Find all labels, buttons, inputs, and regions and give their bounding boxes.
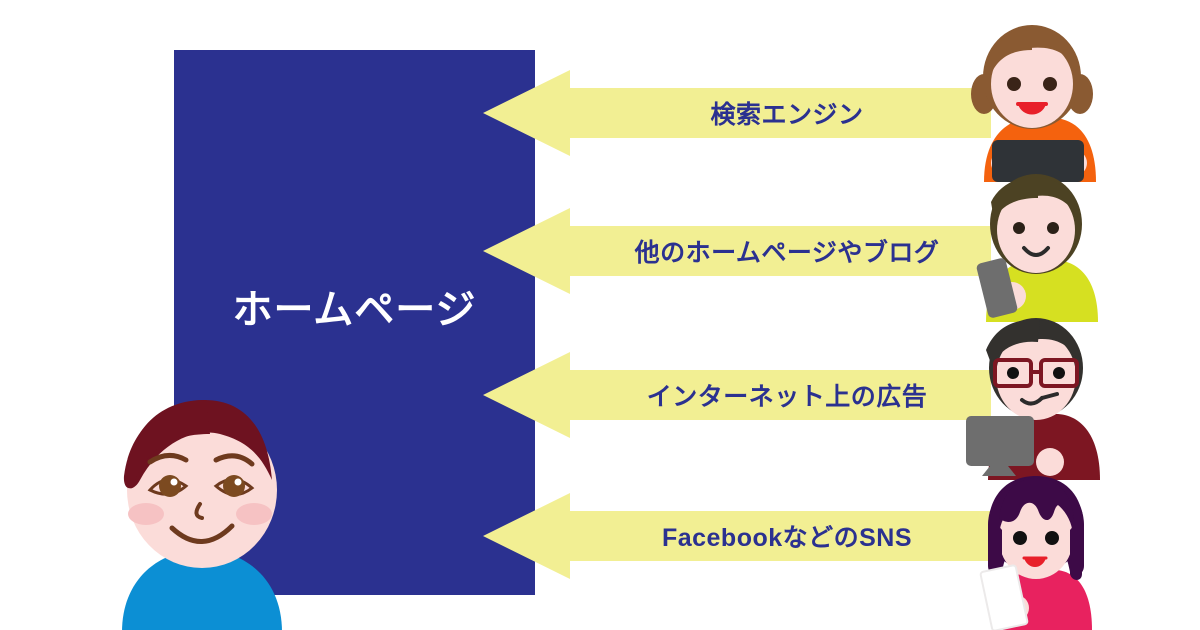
person-girl-with-tablet bbox=[962, 22, 1142, 182]
eye-left-icon bbox=[1013, 222, 1025, 234]
eye-left-icon bbox=[1007, 77, 1021, 91]
arrow-search-engine: 検索エンジン bbox=[483, 70, 991, 156]
person-main-boy bbox=[110, 392, 320, 630]
arrow-label-search-engine: 検索エンジン bbox=[583, 70, 991, 156]
infographic-canvas: ホームページ 検索エンジン 他のホームページやブログ インターネット上の広告 F… bbox=[0, 0, 1200, 630]
blush-left-icon bbox=[128, 503, 164, 525]
eye-left-icon bbox=[1007, 367, 1019, 379]
arrow-label-sns: FacebookなどのSNS bbox=[583, 493, 991, 579]
arrow-label-other-sites: 他のホームページやブログ bbox=[583, 208, 991, 294]
eye-right-icon bbox=[1045, 531, 1059, 545]
person-boy-with-smartphone bbox=[962, 172, 1142, 322]
blush-right-icon bbox=[236, 503, 272, 525]
eye-right-icon bbox=[1047, 222, 1059, 234]
eye-left-icon bbox=[1013, 531, 1027, 545]
person-girl-with-white-device bbox=[962, 470, 1142, 630]
arrow-sns: FacebookなどのSNS bbox=[483, 493, 991, 579]
homepage-panel-label: ホームページ bbox=[174, 290, 535, 330]
arrow-other-sites: 他のホームページやブログ bbox=[483, 208, 991, 294]
person-man-with-monitor bbox=[962, 310, 1142, 480]
arrow-internet-ads: インターネット上の広告 bbox=[483, 352, 991, 438]
eye-right-icon bbox=[1053, 367, 1065, 379]
arrow-label-internet-ads: インターネット上の広告 bbox=[583, 352, 991, 438]
eye-right-icon bbox=[1043, 77, 1057, 91]
